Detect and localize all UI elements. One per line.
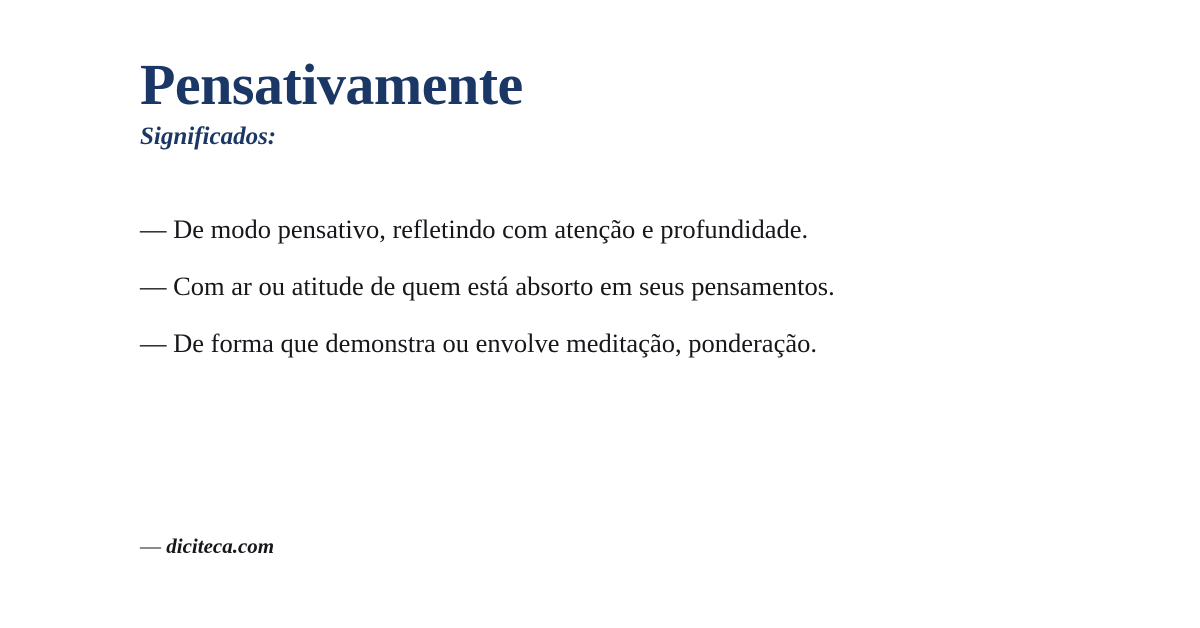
em-dash-icon: —: [140, 214, 167, 244]
source-attribution: — diciteca.com: [140, 534, 274, 559]
dash-icon: —: [140, 534, 161, 558]
source-label: diciteca.com: [166, 534, 274, 558]
card-header: Pensativamente Significados:: [140, 54, 1000, 150]
subtitle-label: Significados:: [140, 123, 1000, 151]
em-dash-icon: —: [140, 328, 167, 358]
definition-text: De modo pensativo, refletindo com atençã…: [173, 214, 808, 244]
definition-text: De forma que demonstra ou envolve medita…: [173, 328, 817, 358]
definitions-list: — De modo pensativo, refletindo com aten…: [140, 212, 970, 362]
page-title: Pensativamente: [140, 54, 1000, 117]
definition-text: Com ar ou atitude de quem está absorto e…: [173, 271, 835, 301]
list-item: — De forma que demonstra ou envolve medi…: [140, 326, 970, 361]
em-dash-icon: —: [140, 271, 167, 301]
definition-card: Pensativamente Significados: — De modo p…: [0, 0, 1200, 628]
list-item: — De modo pensativo, refletindo com aten…: [140, 212, 970, 247]
list-item: — Com ar ou atitude de quem está absorto…: [140, 269, 970, 304]
